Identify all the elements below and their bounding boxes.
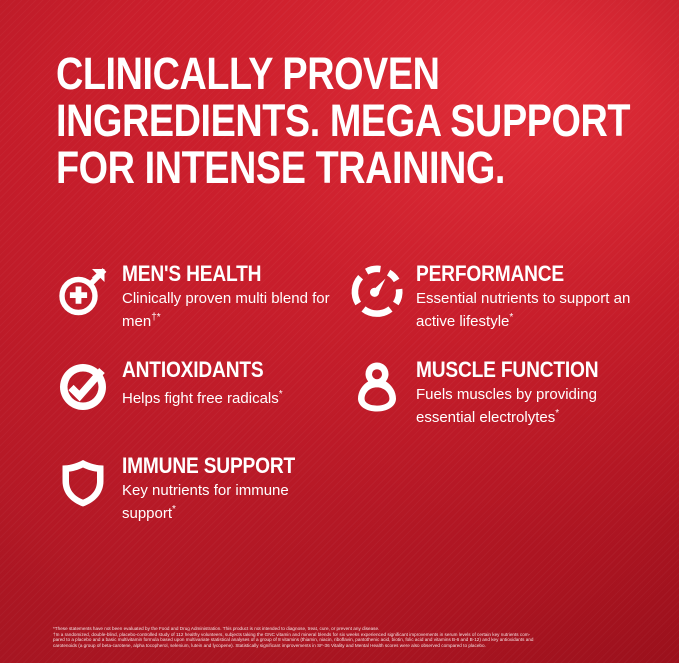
- feature-footnote-mark: *: [555, 408, 559, 419]
- feature-title: ANTIOXIDANTS: [122, 358, 317, 382]
- feature-footnote-mark: †*: [151, 312, 160, 323]
- feature-body-text: Fuels muscles by providing essential ele…: [416, 386, 597, 426]
- feature-title: MUSCLE FUNCTION: [416, 358, 620, 382]
- shield-icon: [56, 456, 110, 510]
- feature-mens-health: MEN'S HEALTH Clinically proven multi ble…: [56, 262, 346, 340]
- legal-disclaimer: *These statements have not been evaluate…: [53, 626, 631, 648]
- feature-body-text: Essential nutrients to support an active…: [416, 290, 630, 330]
- feature-footnote-mark: *: [172, 504, 176, 515]
- feature-muscle-function: MUSCLE FUNCTION Fuels muscles by providi…: [350, 358, 650, 436]
- headline-line-1: CLINICALLY PROVEN: [56, 50, 560, 97]
- feature-body: Key nutrients for immune support*: [122, 482, 346, 523]
- headline-line-3: FOR INTENSE TRAINING.: [56, 144, 560, 191]
- feature-column-right: PERFORMANCE Essential nutrients to suppo…: [350, 262, 650, 447]
- speedometer-icon: [350, 264, 404, 318]
- feature-title: PERFORMANCE: [416, 262, 620, 286]
- feature-immune-support: IMMUNE SUPPORT Key nutrients for immune …: [56, 454, 346, 532]
- feature-body-text: Key nutrients for immune support: [122, 482, 289, 522]
- headline-line-2: INGREDIENTS. MEGA SUPPORT: [56, 97, 560, 144]
- feature-column-left: MEN'S HEALTH Clinically proven multi ble…: [56, 262, 346, 543]
- feature-title: MEN'S HEALTH: [122, 262, 317, 286]
- check-circle-icon: [56, 360, 110, 414]
- feature-body-text: Clinically proven multi blend for men: [122, 290, 330, 330]
- feature-body: Clinically proven multi blend for men†*: [122, 290, 346, 331]
- headline: CLINICALLY PROVEN INGREDIENTS. MEGA SUPP…: [56, 50, 560, 191]
- feature-body-text: Helps fight free radicals: [122, 390, 279, 407]
- feature-antioxidants: ANTIOXIDANTS Helps fight free radicals*: [56, 358, 346, 436]
- feature-footnote-mark: *: [509, 312, 513, 323]
- disclaimer-line-4: carotenoids (a group of beta-carotene, a…: [53, 643, 631, 649]
- feature-body: Helps fight free radicals*: [122, 386, 346, 409]
- male-symbol-cross-icon: [56, 264, 110, 318]
- feature-title: IMMUNE SUPPORT: [122, 454, 317, 478]
- kettlebell-icon: [350, 360, 404, 414]
- feature-body: Fuels muscles by providing essential ele…: [416, 386, 650, 427]
- feature-body: Essential nutrients to support an active…: [416, 290, 650, 331]
- feature-performance: PERFORMANCE Essential nutrients to suppo…: [350, 262, 650, 340]
- feature-footnote-mark: *: [279, 389, 283, 400]
- promo-banner: CLINICALLY PROVEN INGREDIENTS. MEGA SUPP…: [0, 0, 679, 663]
